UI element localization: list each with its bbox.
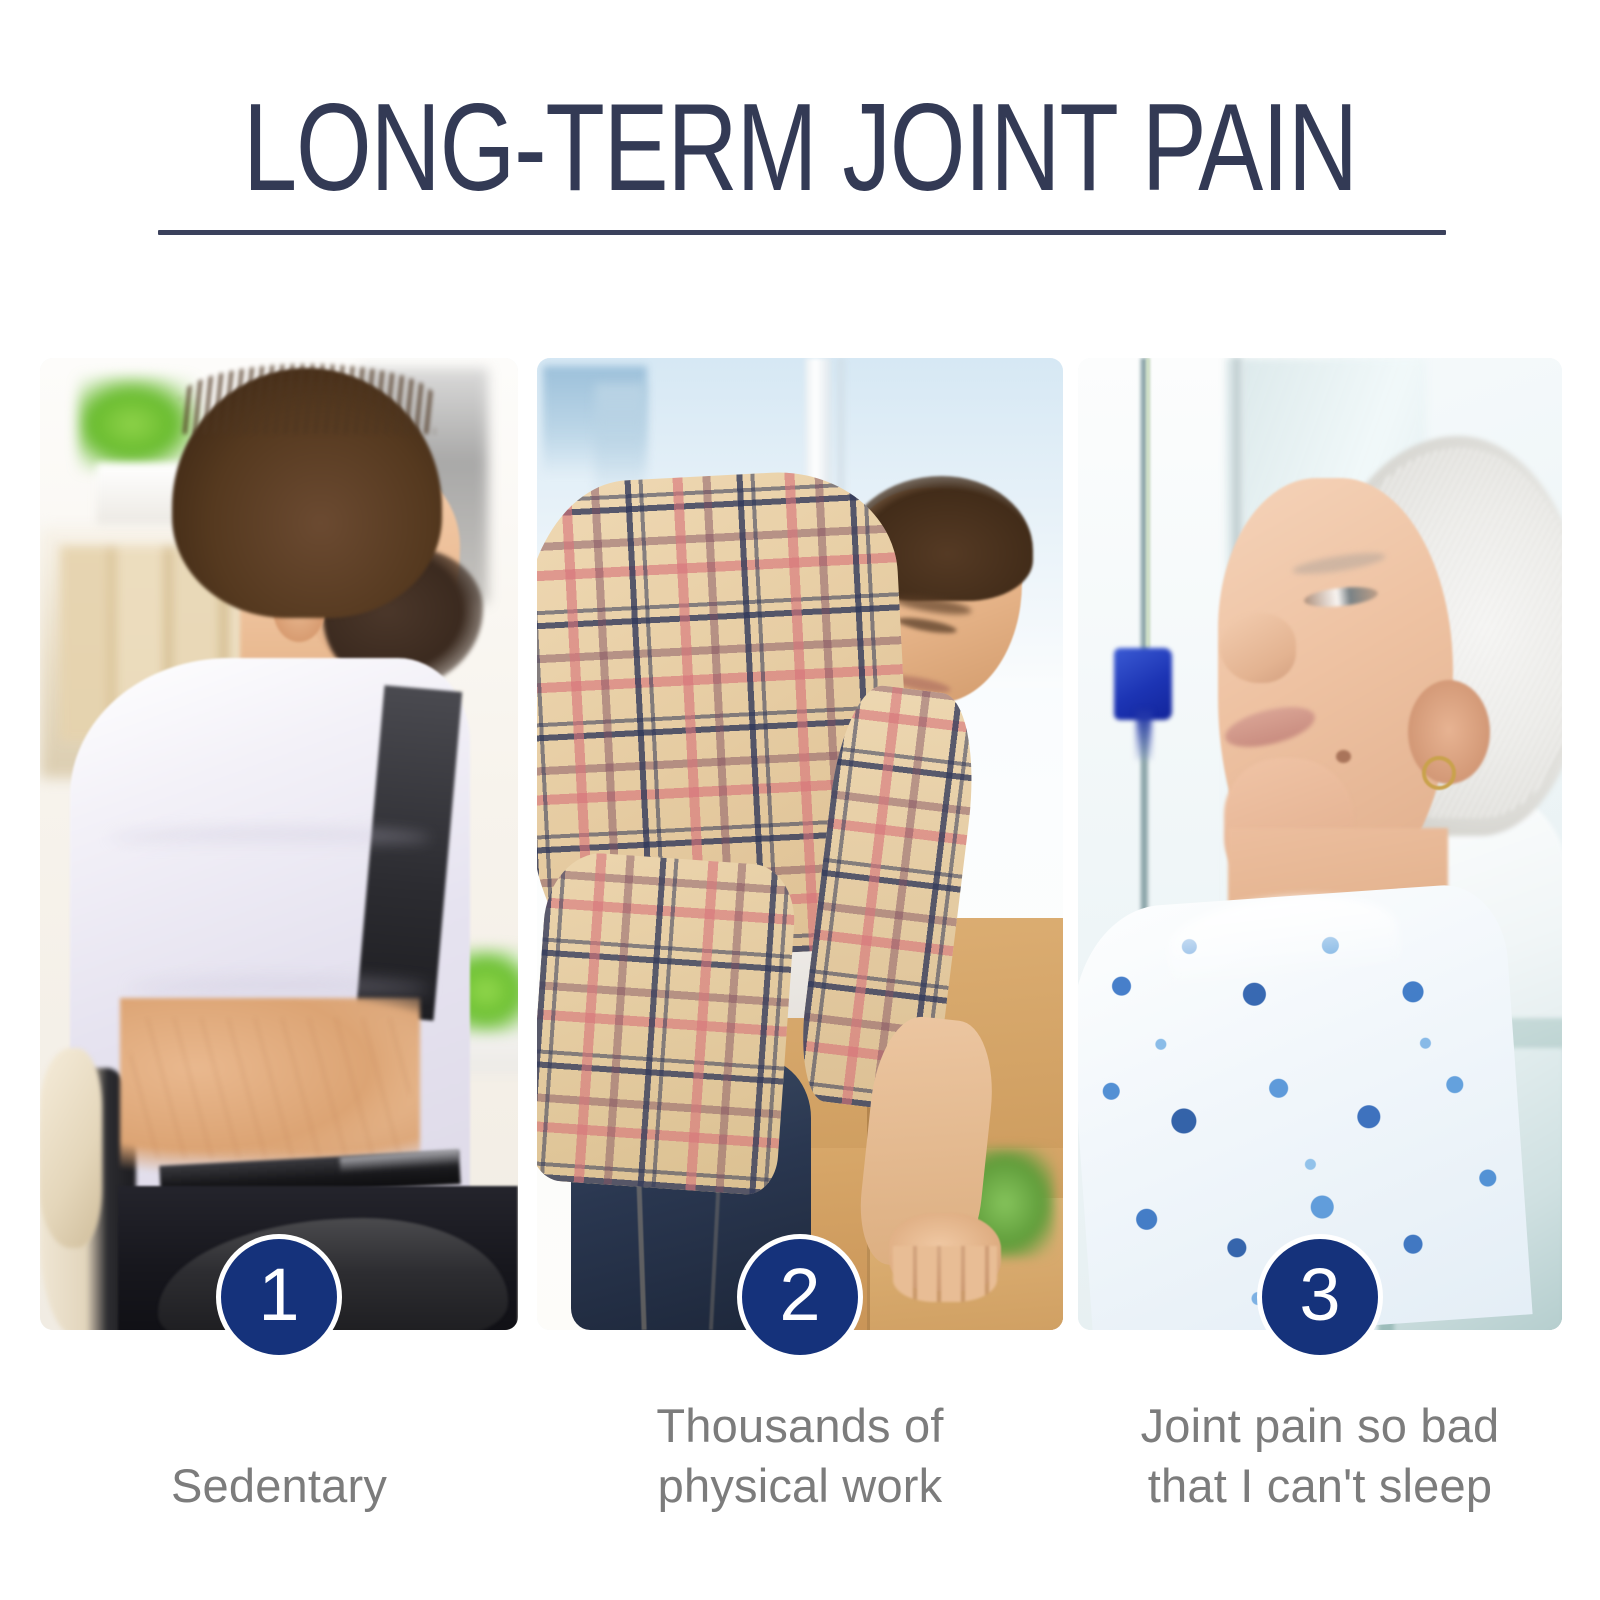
photo-hospital-elderly-woman [1078,358,1562,1330]
step-badge-3-number: 3 [1299,1258,1340,1332]
step-badge-1-number: 1 [258,1258,299,1332]
caption-panel-3-line-1: Joint pain so bad [1078,1396,1562,1456]
page-header: LONG-TERM JOINT PAIN [0,86,1600,210]
panel-row [0,358,1600,1358]
step-badge-1: 1 [216,1234,342,1360]
caption-panel-1-line-1: Sedentary [40,1456,518,1516]
panel-physical-work[interactable] [537,358,1063,1330]
step-badge-2: 2 [737,1234,863,1360]
caption-panel-1: Sedentary [40,1456,518,1516]
step-badge-3: 3 [1257,1234,1383,1360]
caption-panel-2-line-1: Thousands of [537,1396,1063,1456]
panel-cant-sleep[interactable] [1078,358,1562,1330]
caption-panel-2-line-2: physical work [537,1456,1063,1516]
page-title: LONG-TERM JOINT PAIN [172,86,1428,210]
panel-sedentary[interactable] [40,358,518,1330]
photo-moving-boxes-back-pain [537,358,1063,1330]
title-underline-rule [158,230,1446,235]
step-badge-2-number: 2 [779,1258,820,1332]
photo-office-back-pain [40,358,518,1330]
caption-panel-3-line-2: that I can't sleep [1078,1456,1562,1516]
caption-panel-3: Joint pain so bad that I can't sleep [1078,1396,1562,1516]
caption-panel-2: Thousands of physical work [537,1396,1063,1516]
